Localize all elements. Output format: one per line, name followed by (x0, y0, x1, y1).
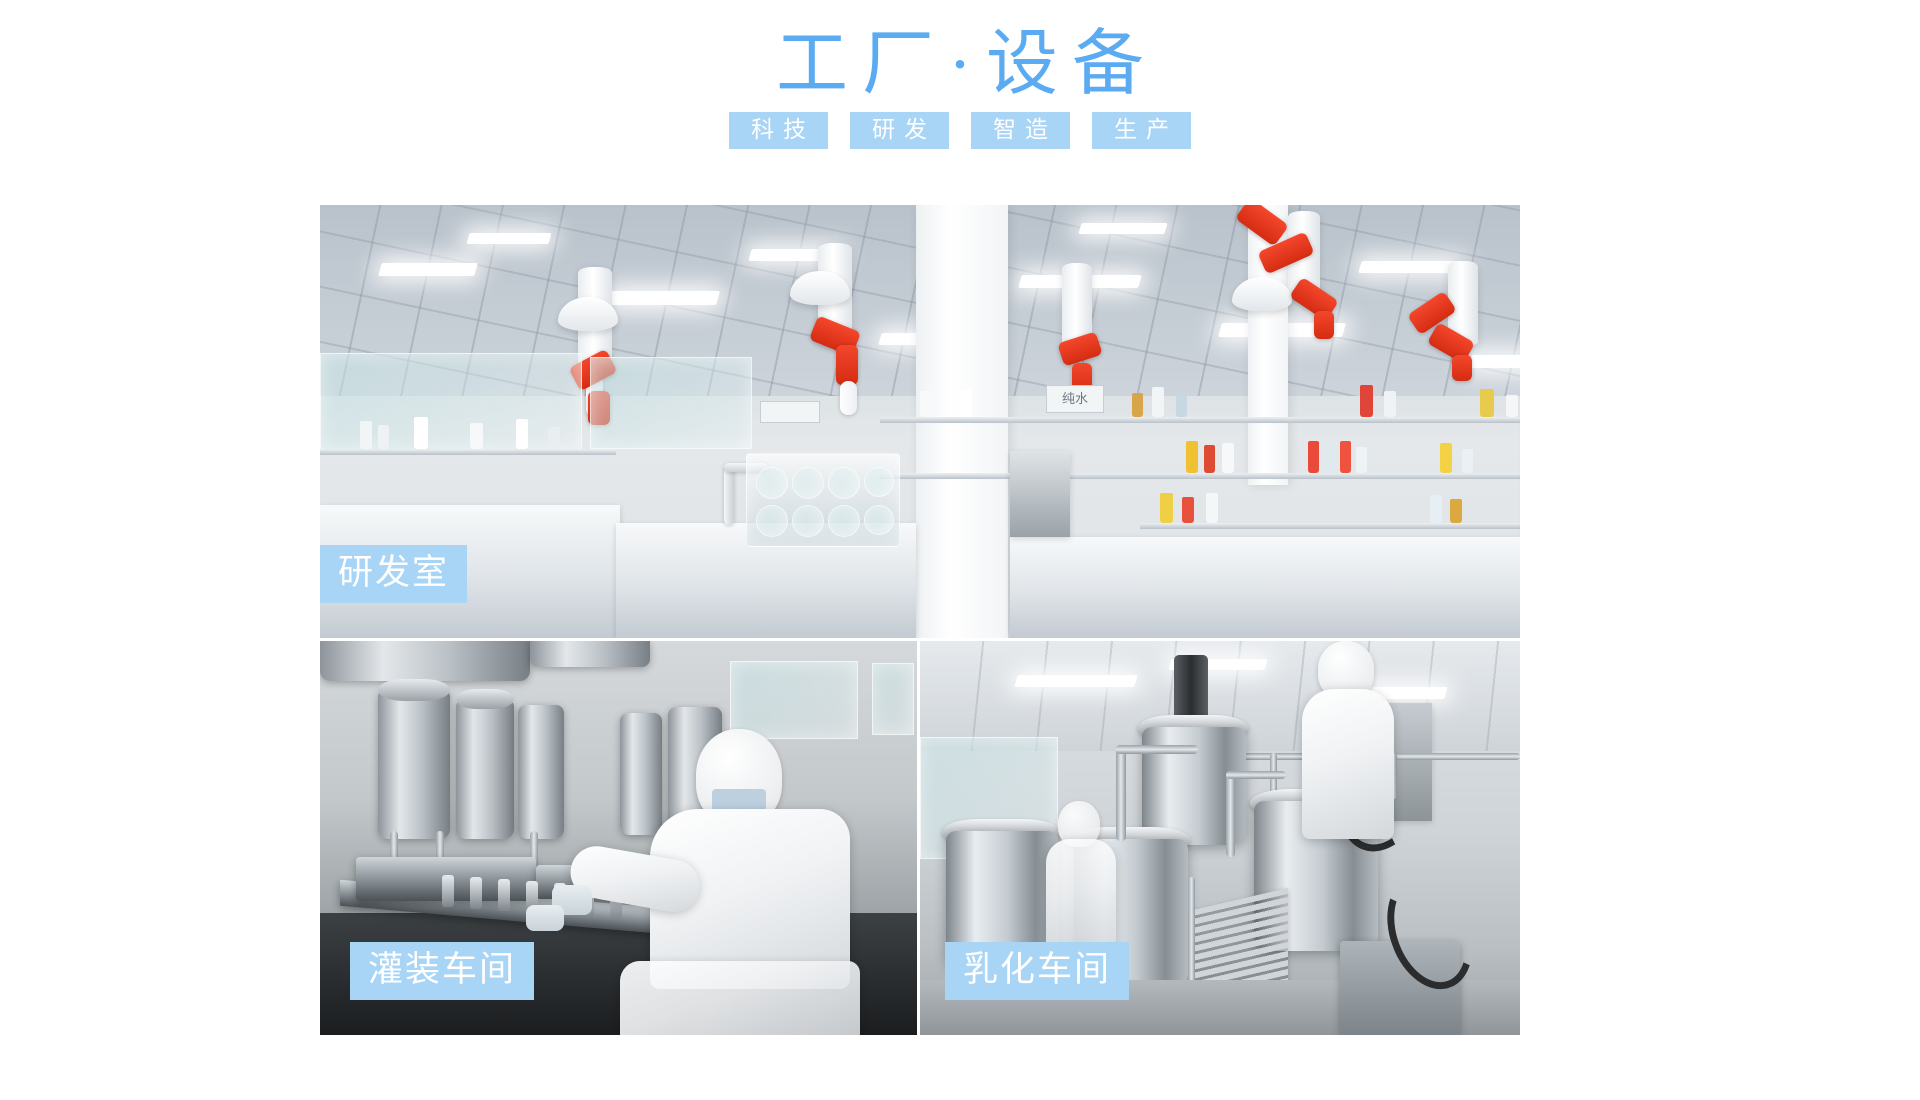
photo-emulsifying-workshop: 乳化车间 (920, 641, 1520, 1035)
reagent-bottle (1480, 389, 1494, 417)
reagent-bottle (1160, 493, 1173, 523)
reagent-bottle (548, 427, 560, 449)
reagent-bottle (470, 423, 483, 449)
reagent-shelf (1140, 523, 1520, 529)
ceiling-light (466, 233, 551, 244)
reagent-bottle (1324, 445, 1335, 473)
reagent-shelf (320, 449, 616, 455)
workshop-window (730, 661, 858, 739)
fume-arm-joint (836, 345, 858, 385)
gallery-bottom-row: 灌装车间 (320, 641, 1520, 1035)
reagent-bottle (1430, 495, 1442, 523)
reagent-bottle (414, 417, 428, 449)
reagent-bottle (960, 389, 972, 417)
reagent-bottle (1384, 391, 1396, 417)
ceiling-light (608, 291, 720, 305)
worker-coveralls (1046, 839, 1116, 955)
glassware-flask (756, 467, 788, 499)
reagent-bottle (378, 425, 389, 449)
stainless-tank (378, 689, 450, 839)
glassware-flask (864, 467, 894, 497)
lab-faucet (724, 467, 734, 525)
ceiling-light (1078, 223, 1167, 234)
fume-arm (840, 381, 857, 415)
stainless-tank (456, 699, 514, 839)
workshop-window (872, 663, 914, 735)
process-pipe (1226, 771, 1235, 857)
ceiling-light (1014, 675, 1137, 687)
photo-research-lab: 纯水 (320, 205, 1520, 638)
ceiling-light (1468, 355, 1520, 368)
reagent-bottle (1450, 499, 1462, 523)
stainless-tank-lid (456, 689, 514, 709)
reagent-shelf (880, 417, 1520, 423)
glassware-flask (792, 505, 824, 537)
filling-nozzle (442, 875, 454, 907)
reagent-bottle (1182, 497, 1194, 523)
stainless-tank-lid (378, 679, 450, 701)
ceiling-light (378, 263, 478, 276)
glassware-flask (756, 505, 788, 537)
reagent-bottle (920, 391, 932, 417)
lab-glass-partition (590, 357, 752, 449)
worker-mask (712, 789, 766, 811)
caption-research-lab: 研发室 (320, 545, 467, 603)
photo-gallery: 纯水 (320, 205, 1520, 1035)
glassware-flask (828, 467, 860, 499)
process-pipe (1226, 771, 1286, 779)
fume-arm-joint (1314, 311, 1334, 339)
reagent-bottle (1132, 393, 1143, 417)
research-lab-scene: 纯水 (320, 205, 1520, 638)
reagent-bottle (1340, 441, 1351, 473)
keyword-tag-production: 生产 (1092, 112, 1191, 149)
glassware-flask (828, 505, 860, 537)
keyword-tag-smart-mfg: 智造 (971, 112, 1070, 149)
reagent-bottle (1440, 443, 1452, 473)
reagent-bottle (1204, 445, 1215, 473)
glassware-flask (864, 505, 894, 535)
fume-arm-joint (1452, 355, 1472, 381)
reagent-bottle (1360, 385, 1373, 417)
glassware-flask (792, 467, 824, 499)
filling-nozzle (470, 877, 482, 909)
keyword-tag-technology: 科技 (729, 112, 828, 149)
lab-water-sign: 纯水 (1046, 385, 1104, 413)
lab-signage (760, 401, 820, 423)
filling-nozzle (498, 879, 510, 911)
reagent-bottle (1356, 447, 1367, 473)
worker-lower-body (620, 961, 860, 1035)
stainless-tank (518, 705, 564, 839)
factory-equipment-page: 工厂·设备 科技 研发 智造 生产 (0, 0, 1920, 1100)
page-header: 工厂·设备 科技 研发 智造 生产 (0, 0, 1920, 149)
ceiling-duct (530, 641, 650, 667)
reagent-bottle (1506, 395, 1518, 417)
keyword-tag-rnd: 研发 (850, 112, 949, 149)
reagent-bottle (516, 419, 528, 449)
reagent-shelf (880, 473, 1520, 479)
reagent-bottle (1186, 441, 1198, 473)
stainless-tank (620, 713, 662, 835)
reagent-bottle (1222, 443, 1234, 473)
filling-workshop-scene: 灌装车间 (320, 641, 917, 1035)
reagent-bottle (1308, 441, 1319, 473)
process-pipe (1116, 745, 1198, 754)
reagent-bottle (1462, 449, 1473, 473)
worker-coveralls (1302, 689, 1394, 839)
worker-glove (526, 905, 564, 931)
page-title: 工厂·设备 (0, 22, 1920, 106)
reagent-bottle (1152, 387, 1164, 417)
lab-instrument (1010, 451, 1070, 537)
process-pipe (1116, 745, 1126, 841)
keyword-tag-row: 科技 研发 智造 生产 (0, 112, 1920, 149)
emulsifying-workshop-scene: 乳化车间 (920, 641, 1520, 1035)
lab-bench (1010, 537, 1520, 638)
caption-filling-workshop: 灌装车间 (350, 942, 534, 1000)
reagent-bottle (1176, 395, 1187, 417)
ceiling-duct (320, 641, 530, 681)
stair-handrail (1188, 877, 1195, 989)
ceiling-light (1358, 261, 1461, 273)
reagent-bottle (1206, 493, 1218, 523)
caption-emulsifying-workshop: 乳化车间 (945, 942, 1129, 1000)
reagent-bottle (360, 421, 372, 449)
photo-filling-workshop: 灌装车间 (320, 641, 917, 1035)
